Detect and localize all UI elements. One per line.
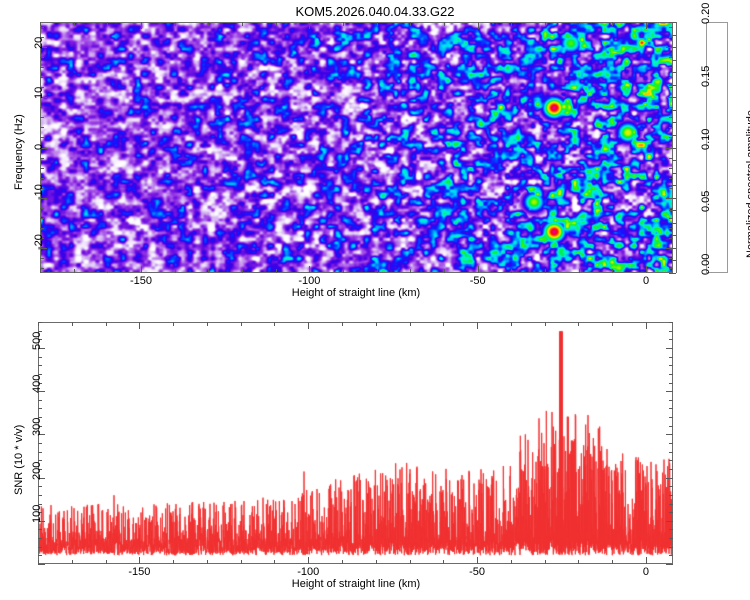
spectrogram-y-tick-label: 10 [33, 87, 45, 99]
snr-x-tick [410, 560, 411, 564]
spectrogram-x-tick [276, 22, 277, 26]
snr-y-tick [38, 538, 42, 539]
snr-y-tick [38, 495, 42, 496]
spectrogram-y-tick [669, 158, 673, 159]
snr-x-tick [443, 322, 444, 326]
spectrogram-y-tick [669, 168, 673, 169]
snr-y-tick [669, 400, 673, 401]
spectrogram-y-tick [40, 77, 44, 78]
colorbar-tick [672, 135, 676, 136]
snr-y-tick [666, 434, 673, 435]
snr-x-tick [545, 560, 546, 564]
snr-trace [39, 323, 672, 563]
spectrogram-y-tick [40, 127, 44, 128]
snr-y-tick [38, 547, 42, 548]
colorbar-tick [672, 122, 676, 123]
snr-y-tick [38, 443, 42, 444]
colorbar-tick [672, 235, 676, 236]
snr-x-tick [342, 322, 343, 326]
colorbar-tick [672, 173, 676, 174]
snr-x-tick [308, 322, 309, 329]
snr-y-axis-label: SNR (10 * v/v) [13, 425, 25, 495]
snr-y-tick [38, 400, 42, 401]
spectrogram-x-tick [40, 269, 41, 273]
spectrogram-x-tick [478, 266, 479, 273]
spectrogram-y-tick [40, 137, 44, 138]
spectrogram-x-tick [579, 269, 580, 273]
spectrogram-y-tick [669, 137, 673, 138]
spectrogram-y-tick [669, 77, 673, 78]
snr-y-tick [669, 374, 673, 375]
snr-x-tick [38, 322, 39, 326]
snr-y-tick [666, 348, 673, 349]
snr-y-tick [669, 383, 673, 384]
spectrogram-x-tick [309, 266, 310, 273]
snr-y-tick [38, 564, 45, 565]
snr-x-tick-label: -50 [469, 566, 485, 578]
spectrogram-y-axis-label: Frequency (Hz) [13, 114, 25, 190]
spectrogram-y-tick [669, 87, 673, 88]
snr-x-tick-label: -150 [128, 566, 150, 578]
spectrogram-x-tick [511, 269, 512, 273]
snr-x-tick [207, 560, 208, 564]
snr-y-tick [38, 408, 42, 409]
snr-x-tick [511, 560, 512, 564]
spectrogram-y-tick [669, 27, 673, 28]
spectrogram-x-tick [107, 269, 108, 273]
snr-y-tick [669, 365, 673, 366]
snr-y-tick [669, 486, 673, 487]
colorbar-tick [672, 223, 676, 224]
colorbar-tick [672, 72, 676, 73]
spectrogram-x-tick [377, 22, 378, 26]
snr-y-tick [38, 529, 42, 530]
figure-root: KOM5.2026.040.04.33.G22 -20-1001020 Freq… [0, 0, 750, 600]
spectrogram-y-tick [669, 57, 673, 58]
snr-y-tick [669, 504, 673, 505]
snr-y-tick [38, 452, 42, 453]
colorbar-tick [669, 210, 676, 211]
page-title: KOM5.2026.040.04.33.G22 [295, 4, 454, 19]
snr-x-tick [545, 322, 546, 326]
colorbar-label: Normalized spectral amplitude [745, 110, 750, 258]
snr-x-tick [241, 560, 242, 564]
spectrogram-x-tick [208, 22, 209, 26]
spectrogram-y-tick [40, 27, 44, 28]
spectrogram-y-tick [40, 168, 44, 169]
colorbar-tick [672, 35, 676, 36]
spectrogram-x-tick [612, 22, 613, 26]
colorbar-tick-label: 0.20 [700, 3, 712, 24]
spectrogram-x-tick [646, 266, 647, 273]
spectrogram-y-tick [40, 107, 44, 108]
spectrogram-x-tick [410, 269, 411, 273]
snr-y-tick-label: 100 [31, 504, 43, 522]
snr-y-tick [669, 512, 673, 513]
snr-y-tick-label: 200 [31, 461, 43, 479]
spectrogram-y-tick [40, 258, 44, 259]
snr-x-tick [646, 557, 647, 564]
spectrogram-x-tick [74, 269, 75, 273]
snr-x-tick [578, 322, 579, 326]
snr-x-tick [241, 322, 242, 326]
snr-y-tick-label: 300 [31, 418, 43, 436]
spectrogram-y-tick [669, 228, 673, 229]
snr-y-tick [669, 547, 673, 548]
snr-y-tick [669, 426, 673, 427]
snr-x-axis-label: Height of straight line (km) [292, 578, 420, 590]
snr-y-tick [669, 443, 673, 444]
spectrogram-y-tick [40, 178, 44, 179]
colorbar-axis-line [676, 22, 677, 273]
snr-x-tick [173, 560, 174, 564]
snr-x-tick-label: -100 [297, 566, 319, 578]
spectrogram-y-tick [40, 208, 44, 209]
snr-x-tick [308, 557, 309, 564]
spectrogram-x-tick [141, 22, 142, 29]
spectrogram-y-tick [669, 127, 673, 128]
colorbar-tick-label: 0.15 [700, 65, 712, 86]
snr-x-tick [477, 322, 478, 329]
snr-x-tick [376, 560, 377, 564]
snr-x-tick [443, 560, 444, 564]
spectrogram-x-tick [309, 22, 310, 29]
colorbar-tick [672, 60, 676, 61]
spectrogram-x-tick [343, 22, 344, 26]
spectrogram-panel [40, 22, 673, 273]
colorbar-tick-label: 0.10 [700, 128, 712, 149]
snr-y-tick [669, 460, 673, 461]
snr-y-tick [666, 478, 673, 479]
colorbar-tick [672, 198, 676, 199]
snr-x-tick [106, 322, 107, 326]
spectrogram-y-tick-label: 0 [33, 143, 45, 149]
snr-y-tick [669, 408, 673, 409]
snr-y-tick [666, 391, 673, 392]
snr-x-tick [173, 322, 174, 326]
colorbar-tick [672, 160, 676, 161]
colorbar-tick [669, 85, 676, 86]
spectrogram-x-tick [545, 269, 546, 273]
snr-y-tick [669, 331, 673, 332]
snr-x-tick [477, 557, 478, 564]
spectrogram-x-tick [511, 22, 512, 26]
spectrogram-y-tick-label: -20 [33, 234, 45, 250]
snr-x-tick [410, 322, 411, 326]
snr-x-tick [207, 322, 208, 326]
colorbar-tick [669, 273, 676, 274]
spectrogram-x-tick [579, 22, 580, 26]
spectrogram-x-tick [175, 269, 176, 273]
snr-y-tick [666, 564, 673, 565]
snr-x-tick [578, 560, 579, 564]
spectrogram-y-tick [40, 57, 44, 58]
spectrogram-y-tick [669, 67, 673, 68]
snr-y-tick-label: 500 [31, 332, 43, 350]
spectrogram-x-tick-label: -150 [130, 275, 152, 287]
spectrogram-x-tick [208, 269, 209, 273]
snr-y-tick [669, 469, 673, 470]
colorbar-tick-label: 0.05 [700, 191, 712, 212]
snr-x-tick [72, 322, 73, 326]
colorbar-tick [672, 248, 676, 249]
snr-x-tick [139, 322, 140, 329]
spectrogram-y-tick [40, 228, 44, 229]
spectrogram-y-tick [40, 158, 44, 159]
snr-y-tick [669, 538, 673, 539]
spectrogram-x-tick [444, 269, 445, 273]
spectrogram-y-tick [669, 218, 673, 219]
colorbar-tick [669, 22, 676, 23]
colorbar-tick-label: 0.00 [700, 254, 712, 275]
snr-y-tick [669, 357, 673, 358]
snr-y-tick-label: 400 [31, 375, 43, 393]
snr-y-tick [669, 322, 673, 323]
snr-y-tick [669, 452, 673, 453]
spectrogram-x-axis-label: Height of straight line (km) [292, 287, 420, 299]
snr-x-tick [376, 322, 377, 326]
spectrogram-x-tick [343, 269, 344, 273]
spectrogram-y-tick [669, 258, 673, 259]
colorbar-tick [672, 97, 676, 98]
snr-y-tick [38, 365, 42, 366]
snr-x-tick [274, 560, 275, 564]
spectrogram-y-tick-label: 20 [33, 37, 45, 49]
spectrogram-y-tick [669, 107, 673, 108]
spectrogram-x-tick [141, 266, 142, 273]
colorbar-tick [672, 260, 676, 261]
spectrogram-y-tick [669, 208, 673, 209]
spectrogram-image [41, 23, 672, 272]
snr-x-tick-label: 0 [643, 566, 649, 578]
snr-panel [38, 322, 673, 564]
spectrogram-x-tick [74, 22, 75, 26]
spectrogram-y-tick [669, 178, 673, 179]
snr-y-tick [38, 555, 42, 556]
spectrogram-x-tick [242, 269, 243, 273]
spectrogram-x-tick [175, 22, 176, 26]
snr-x-tick [612, 322, 613, 326]
snr-y-tick [38, 486, 42, 487]
spectrogram-y-tick [669, 238, 673, 239]
snr-x-tick [72, 560, 73, 564]
snr-x-tick [274, 322, 275, 326]
spectrogram-y-tick [669, 188, 673, 189]
snr-y-tick [669, 529, 673, 530]
spectrogram-x-tick [40, 22, 41, 26]
colorbar-tick [669, 148, 676, 149]
snr-y-tick [669, 417, 673, 418]
spectrogram-y-tick-label: -10 [33, 184, 45, 200]
spectrogram-x-tick [276, 269, 277, 273]
snr-x-tick [612, 560, 613, 564]
snr-y-tick [669, 339, 673, 340]
spectrogram-x-tick [646, 22, 647, 29]
spectrogram-y-tick [669, 268, 673, 269]
spectrogram-x-tick-label: -50 [470, 275, 486, 287]
colorbar-tick [672, 110, 676, 111]
spectrogram-y-tick [669, 37, 673, 38]
colorbar-tick [672, 47, 676, 48]
snr-x-tick [646, 322, 647, 329]
spectrogram-x-tick [377, 269, 378, 273]
spectrogram-y-tick [40, 67, 44, 68]
snr-y-tick [669, 495, 673, 496]
snr-x-tick [342, 560, 343, 564]
spectrogram-x-tick-label: 0 [643, 275, 649, 287]
snr-x-tick [139, 557, 140, 564]
spectrogram-x-tick [545, 22, 546, 26]
spectrogram-x-tick-label: -100 [298, 275, 320, 287]
snr-x-tick [511, 322, 512, 326]
snr-y-tick [666, 521, 673, 522]
snr-x-tick [38, 560, 39, 564]
snr-y-tick [38, 357, 42, 358]
spectrogram-x-tick [612, 269, 613, 273]
spectrogram-y-tick [669, 117, 673, 118]
snr-x-tick [106, 560, 107, 564]
spectrogram-x-tick [242, 22, 243, 26]
spectrogram-x-tick [410, 22, 411, 26]
spectrogram-x-tick [444, 22, 445, 26]
spectrogram-y-tick [40, 117, 44, 118]
spectrogram-x-tick [107, 22, 108, 26]
colorbar-tick [672, 185, 676, 186]
snr-y-tick [669, 555, 673, 556]
spectrogram-y-tick [40, 218, 44, 219]
spectrogram-x-tick [478, 22, 479, 29]
